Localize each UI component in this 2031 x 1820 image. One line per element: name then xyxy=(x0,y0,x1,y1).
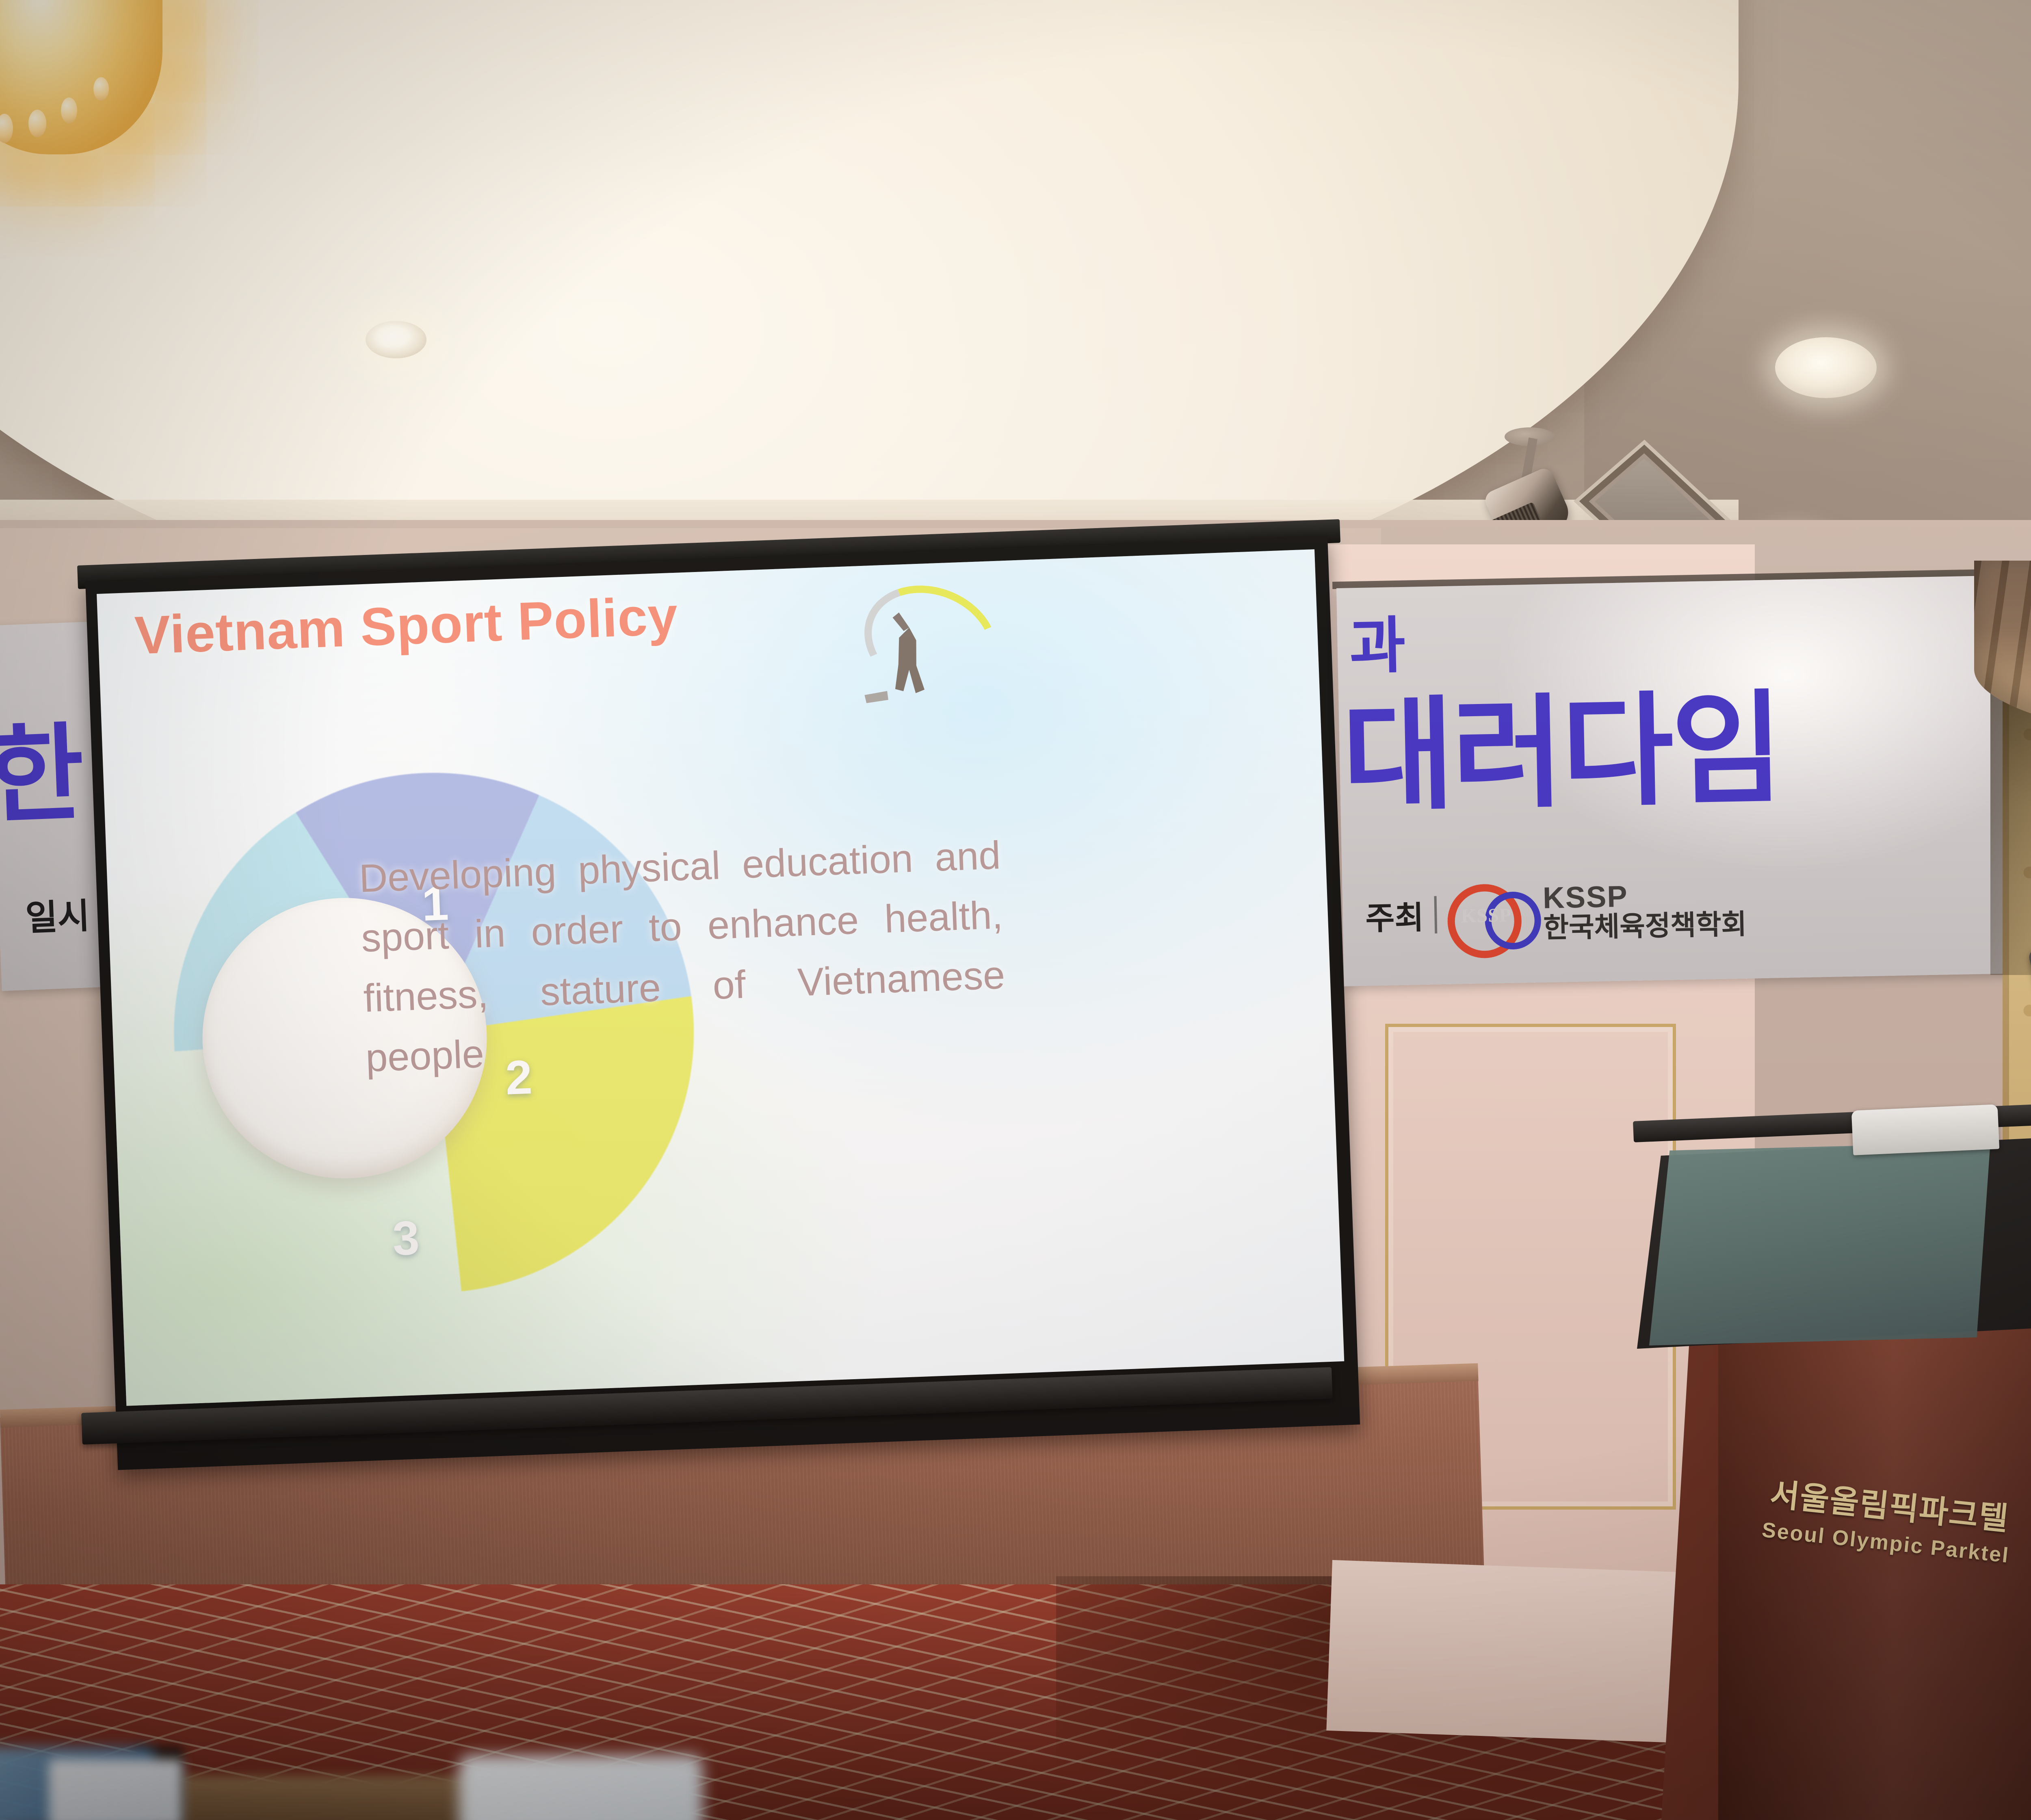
org-name-kr: 한국체육정책학회 xyxy=(1543,910,1747,943)
projection-screen: Vietnam Sport Policy 1 2 3 Developing ph… xyxy=(97,549,1344,1406)
left-banner-headline: 한 xyxy=(0,687,87,844)
foreground-table xyxy=(134,1775,500,1820)
laptop-on-podium[interactable] xyxy=(1851,1104,1999,1155)
slide-title: Vietnam Sport Policy xyxy=(134,581,785,666)
conference-presentation-photo: 한 일시 Vietnam Sport Policy 1 2 3 Developi… xyxy=(0,0,2031,1820)
slide-body-text: Developing physical education and sport … xyxy=(358,825,1008,1088)
donut-label-3: 3 xyxy=(392,1210,420,1266)
kssp-logo-icon: KSSP xyxy=(1446,882,1533,945)
credit-divider xyxy=(1434,896,1437,934)
foreground-white-object-right xyxy=(459,1755,703,1820)
left-banner-subtext: 일시 xyxy=(24,887,91,940)
org-name-en: KSSP xyxy=(1542,878,1746,914)
banner-credit-row: 주최 KSSP KSSP 한국체육정책학회 xyxy=(1365,878,1747,947)
recessed-downlight-icon xyxy=(366,321,427,358)
banner-headline: 대러다임 xyxy=(1340,650,1782,834)
logo-mark-text: KSSP xyxy=(1461,904,1511,927)
foreground-white-object-left xyxy=(49,1759,183,1820)
recessed-downlight-icon xyxy=(1775,337,1877,398)
host-label: 주최 xyxy=(1365,892,1424,939)
podium-slate-panel xyxy=(1649,1142,1990,1345)
kssp-org-names: KSSP 한국체육정책학회 xyxy=(1542,878,1747,943)
